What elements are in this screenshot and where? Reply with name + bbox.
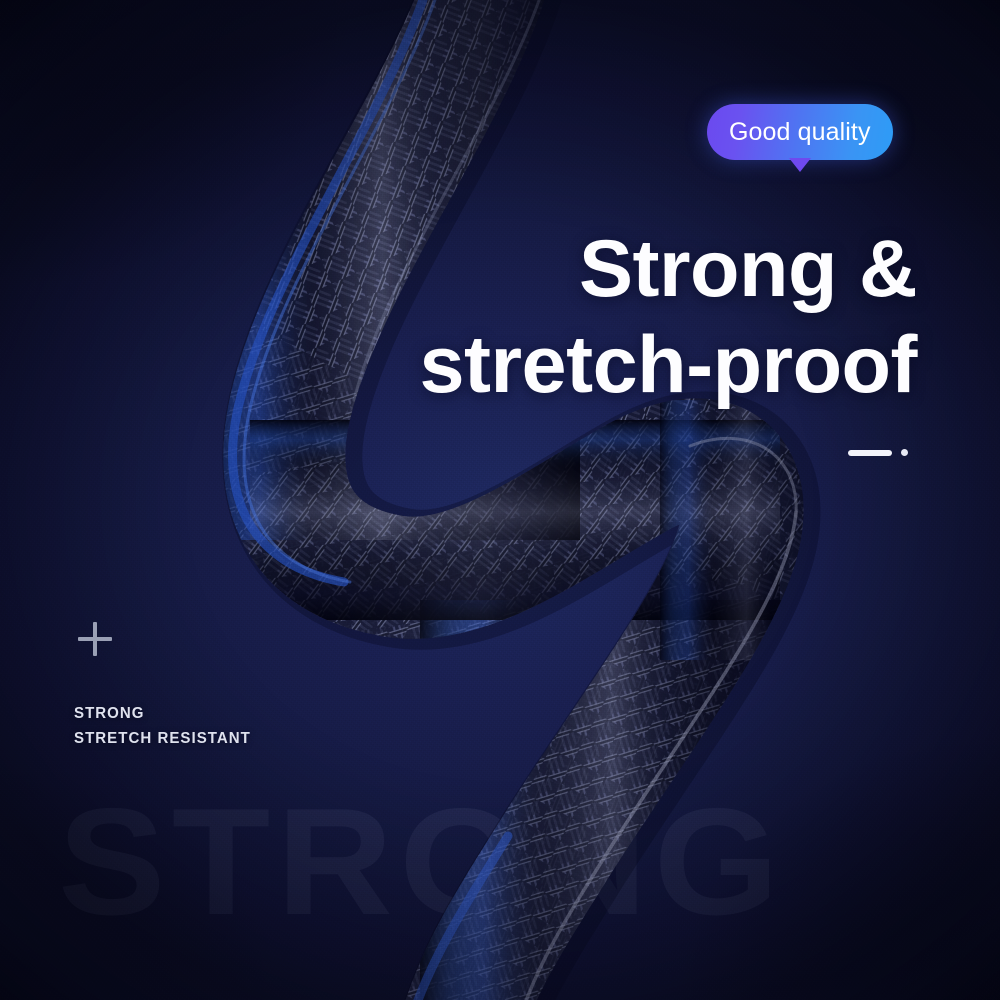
- good-quality-badge[interactable]: Good quality: [707, 104, 893, 160]
- feature-caption: STRONG STRETCH RESISTANT: [74, 702, 251, 752]
- headline-line-1: Strong &: [579, 224, 917, 314]
- promo-banner: STRONG: [0, 0, 1000, 1000]
- badge-pointer: [789, 158, 811, 172]
- decorative-divider: [848, 449, 908, 456]
- plus-icon: [78, 622, 112, 656]
- divider-line: [848, 450, 892, 456]
- page-title: Strong & stretch-proof: [320, 222, 917, 413]
- badge-label: Good quality: [729, 118, 871, 147]
- headline-line-2: stretch-proof: [320, 318, 917, 414]
- caption-line-1: STRONG: [74, 702, 251, 727]
- badge-pill[interactable]: Good quality: [707, 104, 893, 160]
- divider-dot: [901, 449, 908, 456]
- caption-line-2: STRETCH RESISTANT: [74, 727, 251, 752]
